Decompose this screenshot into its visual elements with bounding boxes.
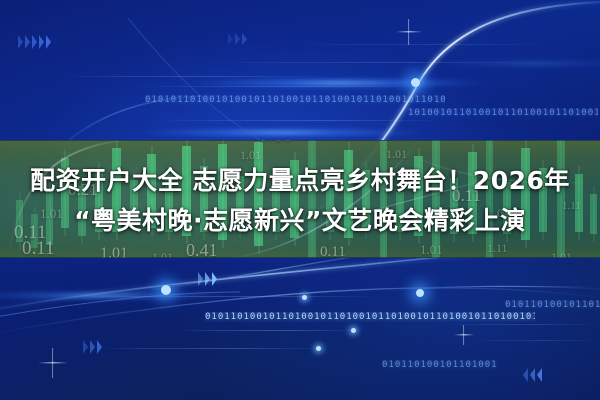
title-block: 配资开户大全 志愿力量点亮乡村舞台！2026年 “粤美村晚·志愿新兴”文艺晚会精… bbox=[0, 140, 600, 258]
page-title-line-1: 配资开户大全 志愿力量点亮乡村舞台！2026年 bbox=[30, 161, 570, 197]
page-title-line-2: “粤美村晚·志愿新兴”文艺晚会精彩上演 bbox=[74, 201, 526, 237]
banner-root: 0101011010010100101101001011010010110100… bbox=[0, 0, 600, 400]
